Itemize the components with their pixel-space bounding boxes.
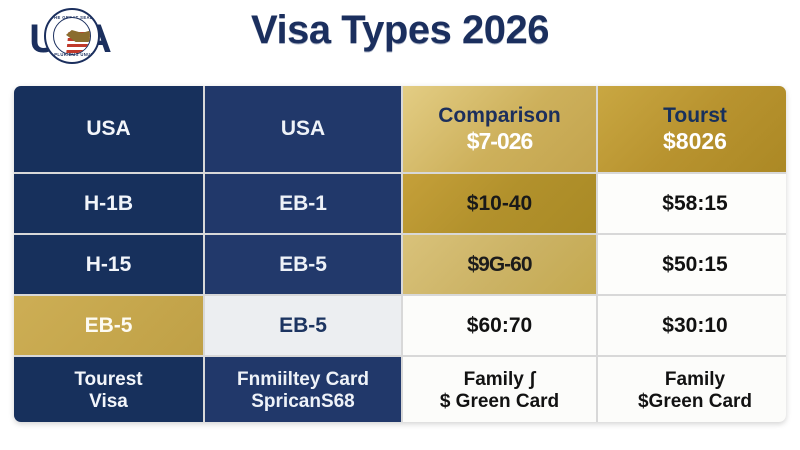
table-row: EB-1: [205, 174, 401, 233]
cell-line-1: $60:70: [467, 314, 532, 338]
visa-comparison-table: USA USA Comparison $7-026 Tourst $8026 H…: [14, 86, 786, 422]
cell-line-1: H-15: [86, 253, 132, 277]
cell-line-2: Visa: [89, 391, 128, 413]
table-row: Family ʃ $ Green Card: [403, 357, 596, 422]
cell-line-1: $10-40: [467, 192, 532, 216]
table-row: $58:15: [598, 174, 786, 233]
table-row: Tourest Visa: [14, 357, 203, 422]
cell-line-1: $9G-60: [467, 253, 531, 277]
cell-line-1: $58:15: [662, 192, 727, 216]
table-row: EB-5: [205, 235, 401, 294]
cell-line-1: EB-5: [279, 253, 327, 277]
seal-inner-ring: [53, 17, 91, 55]
table-row: Family $Green Card: [598, 357, 786, 422]
table-row: $30:10: [598, 296, 786, 355]
table-row: H-1B: [14, 174, 203, 233]
table-row: H-15: [14, 235, 203, 294]
visa-types-infographic: USA THE GREAT SEAL E PLURIBUS UNUM Visa …: [0, 0, 800, 450]
cell-line-2: $7-026: [467, 128, 533, 154]
seal-bottom-text: E PLURIBUS UNUM: [46, 52, 98, 57]
cell-line-2: $ Green Card: [440, 391, 559, 413]
cell-line-2: SpricanS68: [251, 391, 355, 413]
table-row: EB-5: [14, 296, 203, 355]
table-header-cell-4: Tourst $8026: [598, 86, 786, 172]
cell-line-1: USA: [281, 117, 325, 141]
table-header-cell-2: USA: [205, 86, 401, 172]
cell-line-1: $30:10: [662, 314, 727, 338]
table-row: Fnmiiltey Card SpricanS68: [205, 357, 401, 422]
table-header-cell-1: USA: [14, 86, 203, 172]
table-row: $10-40: [403, 174, 596, 233]
cell-line-1: Family: [665, 369, 725, 391]
table-row: $9G-60: [403, 235, 596, 294]
cell-line-2: $8026: [663, 128, 727, 154]
cell-line-1: Tourst: [663, 104, 727, 128]
cell-line-1: Comparison: [438, 104, 561, 128]
cell-line-1: EB-1: [279, 192, 327, 216]
cell-line-2: $Green Card: [638, 391, 752, 413]
table-header-cell-3: Comparison $7-026: [403, 86, 596, 172]
table-row: $60:70: [403, 296, 596, 355]
cell-line-1: $50:15: [662, 253, 727, 277]
cell-line-1: Tourest: [74, 369, 142, 391]
table-row: EB-5: [205, 296, 401, 355]
cell-line-1: EB-5: [279, 314, 327, 338]
cell-line-1: USA: [86, 117, 130, 141]
cell-line-1: H-1B: [84, 192, 133, 216]
cell-line-1: Fnmiiltey Card: [237, 369, 369, 391]
page-title: Visa Types 2026: [0, 8, 800, 53]
header-bar: USA THE GREAT SEAL E PLURIBUS UNUM Visa …: [0, 0, 800, 84]
table-row: $50:15: [598, 235, 786, 294]
cell-line-1: Family ʃ: [464, 369, 536, 391]
cell-line-1: EB-5: [85, 314, 133, 338]
great-seal-icon: THE GREAT SEAL E PLURIBUS UNUM: [44, 8, 100, 64]
